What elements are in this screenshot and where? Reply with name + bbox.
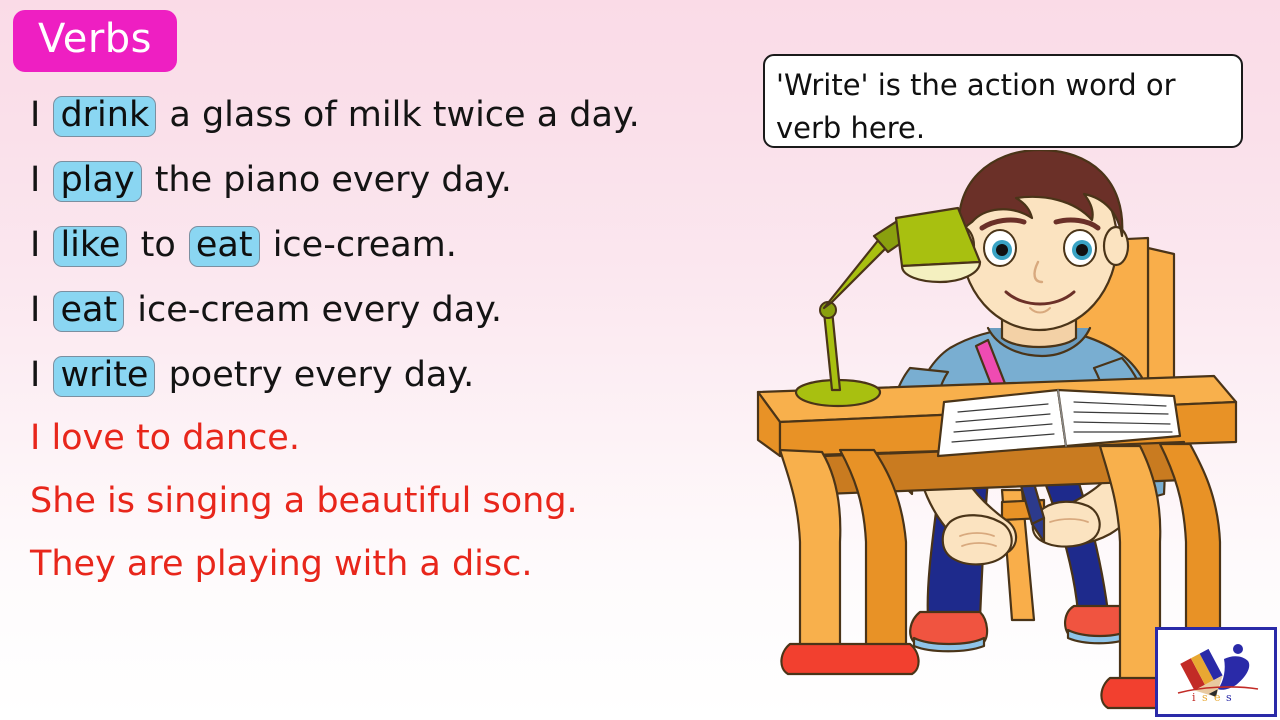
page-title: Verbs <box>38 19 152 63</box>
callout-text: 'Write' is the action word or verb here. <box>776 64 1231 150</box>
highlighted-verb[interactable]: write <box>53 356 155 397</box>
sentence-line: I like to eat ice-cream. <box>30 226 750 267</box>
svg-text:i: i <box>1192 691 1196 704</box>
sentence-text: I <box>30 355 51 395</box>
highlighted-verb[interactable]: eat <box>189 226 260 267</box>
sentence-line: I drink a glass of milk twice a day. <box>30 96 750 137</box>
callout-box: 'Write' is the action word or verb here. <box>763 54 1243 148</box>
sentence-text: I love to dance. <box>30 418 300 458</box>
sentence-text: to <box>129 225 186 265</box>
highlighted-verb[interactable]: drink <box>53 96 156 137</box>
sentence-text: I <box>30 290 51 330</box>
pencil-and-figure-logo-icon: i s e s <box>1166 639 1266 705</box>
sentence-text: I <box>30 95 51 135</box>
highlighted-verb[interactable]: play <box>53 161 141 202</box>
sentence-text: She is singing a beautiful song. <box>30 481 578 521</box>
sentence-line: I eat ice-cream every day. <box>30 291 750 332</box>
highlighted-verb[interactable]: eat <box>53 291 124 332</box>
sentence-text: a glass of milk twice a day. <box>158 95 640 135</box>
sentence-line: They are playing with a disc. <box>30 547 750 582</box>
highlighted-verb[interactable]: like <box>53 226 127 267</box>
page-title-badge: Verbs <box>13 10 177 72</box>
logo-box: i s e s <box>1155 627 1277 717</box>
sentence-line: I play the piano every day. <box>30 161 750 202</box>
sentence-line: I love to dance. <box>30 421 750 456</box>
sentence-text: ice-cream. <box>262 225 457 265</box>
svg-text:s: s <box>1202 691 1208 704</box>
sentence-text: I <box>30 160 51 200</box>
sentence-line: I write poetry every day. <box>30 356 750 397</box>
sentence-list: I drink a glass of milk twice a day.I pl… <box>30 96 750 610</box>
sentence-text: They are playing with a disc. <box>30 544 533 584</box>
svg-text:e: e <box>1214 691 1221 704</box>
sentence-text: the piano every day. <box>144 160 512 200</box>
slide-canvas: Verbs I drink a glass of milk twice a da… <box>0 0 1280 720</box>
sentence-line: She is singing a beautiful song. <box>30 484 750 519</box>
sentence-text: ice-cream every day. <box>126 290 502 330</box>
sentence-text: I <box>30 225 51 265</box>
sentence-text: poetry every day. <box>157 355 474 395</box>
svg-text:s: s <box>1226 691 1232 704</box>
